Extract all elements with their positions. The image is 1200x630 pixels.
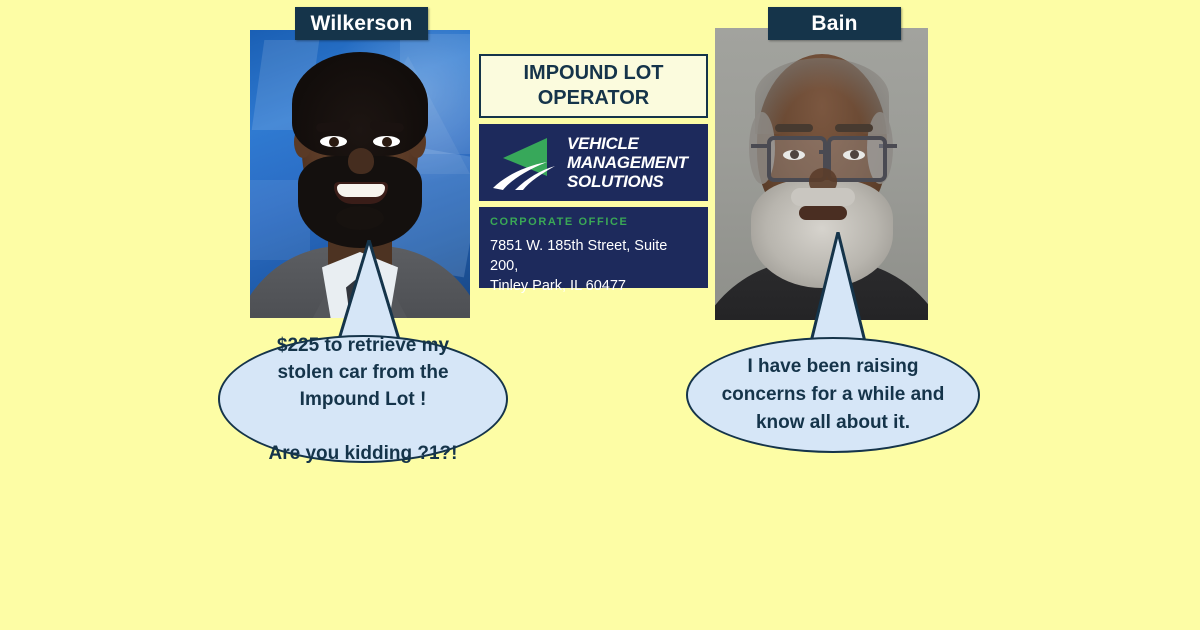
glasses-lens-right — [827, 136, 887, 182]
logo-line-3: SOLUTIONS — [567, 172, 688, 191]
hair — [292, 52, 428, 156]
logo-line-2: MANAGEMENT — [567, 153, 688, 172]
corporate-office-heading: CORPORATE OFFICE — [490, 216, 697, 228]
logo-wordmark: VEHICLE MANAGEMENT SOLUTIONS — [567, 134, 688, 191]
speech-bubble-bain: I have been raising concerns for a while… — [686, 337, 980, 453]
corporate-office-address: 7851 W. 185th Street, Suite 200, Tinley … — [490, 236, 697, 296]
name-label-wilkerson: Wilkerson — [295, 7, 428, 40]
hair — [755, 58, 889, 134]
pupil — [382, 137, 392, 147]
vehicle-management-solutions-logo-panel: VEHICLE MANAGEMENT SOLUTIONS — [479, 124, 708, 201]
speech-bubble-text: I have been raising concerns for a while… — [700, 353, 967, 437]
road-arrow-logo-icon — [485, 132, 567, 194]
chin-beard — [336, 206, 384, 230]
teeth — [337, 184, 385, 197]
nose — [348, 148, 374, 174]
impound-lot-operator-title: IMPOUND LOT OPERATOR — [479, 54, 708, 118]
name-label-bain: Bain — [768, 7, 901, 40]
mustache — [791, 188, 855, 206]
title-text: IMPOUND LOT OPERATOR — [524, 61, 664, 111]
pupil — [329, 137, 339, 147]
eyebrow-right — [835, 124, 873, 132]
logo-line-1: VEHICLE — [567, 134, 688, 153]
speech-bubble-text: $225 to retrieve my stolen car from the … — [247, 332, 480, 467]
eyebrow-left — [775, 124, 813, 132]
eye-right — [373, 136, 400, 147]
corporate-office-panel: CORPORATE OFFICE 7851 W. 185th Street, S… — [479, 207, 708, 288]
mouth — [799, 206, 847, 220]
infographic-canvas: Wilkerson $225 to retrieve my stolen car… — [0, 0, 1200, 630]
glasses-bridge — [819, 150, 831, 154]
speech-bubble-wilkerson: $225 to retrieve my stolen car from the … — [218, 335, 508, 463]
eye-left — [320, 136, 347, 147]
